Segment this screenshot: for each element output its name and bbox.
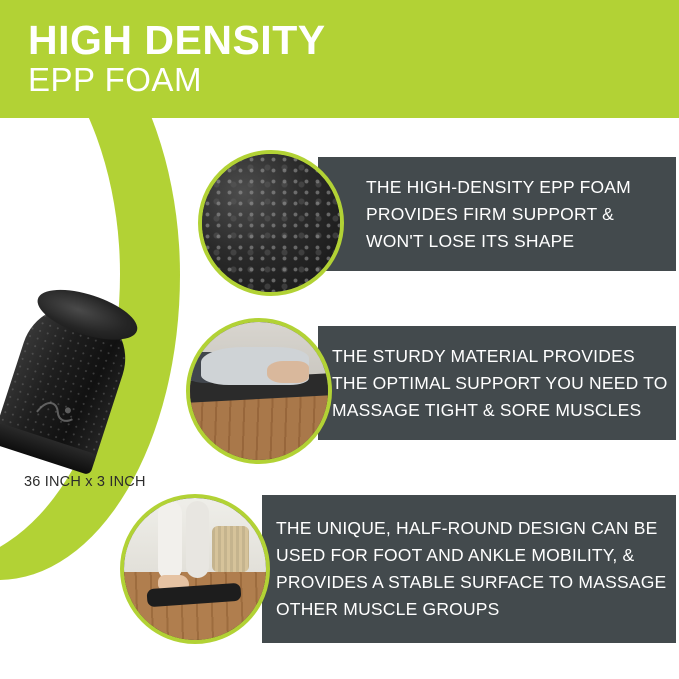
feature-1-line-3: WON'T LOSE ITS SHAPE [366, 228, 676, 255]
foam-closeup-photo [198, 150, 344, 296]
feature-2-line-3: MASSAGE TIGHT & SORE MUSCLES [332, 397, 676, 424]
scene-basket [212, 526, 249, 571]
infographic-page: HIGH DENSITY EPP FOAM 36 INCH x 3 INCH T… [0, 0, 679, 679]
feature-3-line-2: USED FOR FOOT AND ANKLE MOBILITY, & [276, 542, 676, 569]
feature-1-line-1: THE HIGH-DENSITY EPP FOAM [366, 174, 676, 201]
feature-2-line-2: THE OPTIMAL SUPPORT YOU NEED TO [332, 370, 676, 397]
product-dimensions-caption: 36 INCH x 3 INCH [24, 474, 146, 490]
feature-3-panel: THE UNIQUE, HALF-ROUND DESIGN CAN BE USE… [262, 495, 676, 643]
feature-2-line-1: THE STURDY MATERIAL PROVIDES [332, 343, 676, 370]
feature-3-line-1: THE UNIQUE, HALF-ROUND DESIGN CAN BE [276, 515, 676, 542]
scene-wood-floor [124, 572, 266, 640]
feature-2-panel: THE STURDY MATERIAL PROVIDES THE OPTIMAL… [318, 326, 676, 440]
scene-person-arm [267, 361, 308, 383]
feature-3-line-4: OTHER MUSCLE GROUPS [276, 596, 676, 623]
feature-3-line-3: PROVIDES A STABLE SURFACE TO MASSAGE [276, 569, 676, 596]
feature-1-panel: THE HIGH-DENSITY EPP FOAM PROVIDES FIRM … [318, 157, 676, 271]
feet-on-roller-photo [120, 494, 270, 644]
scene-right-leg [186, 501, 209, 578]
page-title-line-1: HIGH DENSITY [28, 18, 326, 62]
person-on-mat-photo [186, 318, 332, 464]
page-title-line-2: EPP FOAM [28, 62, 326, 98]
foam-roller-illustration [0, 280, 147, 483]
product-image: 36 INCH x 3 INCH [8, 292, 198, 492]
scene-left-leg [158, 501, 182, 581]
feature-1-line-2: PROVIDES FIRM SUPPORT & [366, 201, 676, 228]
page-title: HIGH DENSITY EPP FOAM [28, 18, 326, 98]
foam-bead-pattern [202, 154, 340, 292]
